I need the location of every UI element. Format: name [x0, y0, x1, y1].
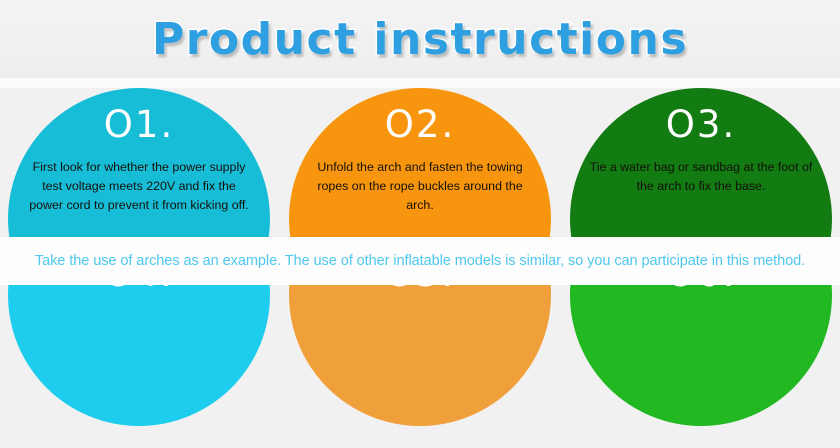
page-footer-band — [0, 426, 840, 448]
header-divider — [0, 78, 840, 88]
info-banner-text: Take the use of arches as an example. Th… — [35, 253, 805, 269]
step-number-05: O5. — [385, 285, 455, 292]
page-header: Product instructions — [0, 0, 840, 78]
step-number-02: O2. — [385, 106, 455, 143]
step-card-03: O3. Tie a water bag or sandbag at the fo… — [570, 88, 832, 237]
info-banner: Take the use of arches as an example. Th… — [0, 237, 840, 285]
step-card-02: O2. Unfold the arch and fasten the towin… — [289, 88, 551, 237]
step-card-01: O1. First look for whether the power sup… — [8, 88, 270, 237]
product-instructions-page: Product instructions O1. First look for … — [0, 0, 840, 448]
step-card-06: During use, if there is a problem with t… — [570, 285, 832, 426]
step-card-05: If there is wind, please prepare a fixed… — [289, 285, 551, 426]
step-card-04: Connect the fan to pull the traction rop… — [8, 285, 270, 426]
step-number-01: O1. — [104, 106, 174, 143]
steps-row-bottom: Connect the fan to pull the traction rop… — [0, 285, 840, 426]
step-number-04: O4. — [104, 285, 174, 292]
step-text-01: First look for whether the power supply … — [24, 158, 254, 216]
page-title: Product instructions — [152, 14, 688, 65]
step-text-03: Tie a water bag or sandbag at the foot o… — [586, 158, 816, 196]
step-number-03: O3. — [666, 106, 736, 143]
step-text-02: Unfold the arch and fasten the towing ro… — [305, 158, 535, 216]
steps-row-top: O1. First look for whether the power sup… — [0, 88, 840, 237]
step-number-06: O6. — [666, 285, 736, 292]
